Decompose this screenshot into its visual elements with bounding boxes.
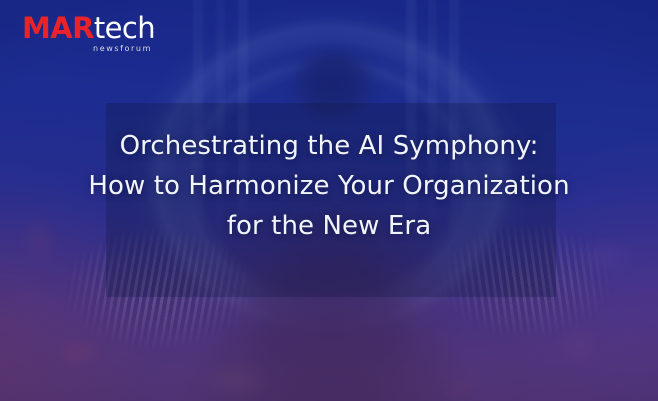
logo-tagline: newsforum — [22, 44, 154, 53]
headline-line-3: for the New Era — [0, 206, 658, 246]
logo-wordmark: MARtech — [22, 14, 154, 43]
headline-line-2: How to Harmonize Your Organization — [0, 166, 658, 206]
logo-word-mar: MAR — [22, 11, 94, 45]
promo-banner: MARtech newsforum Orchestrating the AI S… — [0, 0, 658, 401]
headline-line-1: Orchestrating the AI Symphony: — [0, 126, 658, 166]
banner-headline: Orchestrating the AI Symphony: How to Ha… — [0, 126, 658, 246]
martech-logo[interactable]: MARtech newsforum — [22, 14, 154, 53]
logo-word-tech: tech — [94, 11, 155, 45]
